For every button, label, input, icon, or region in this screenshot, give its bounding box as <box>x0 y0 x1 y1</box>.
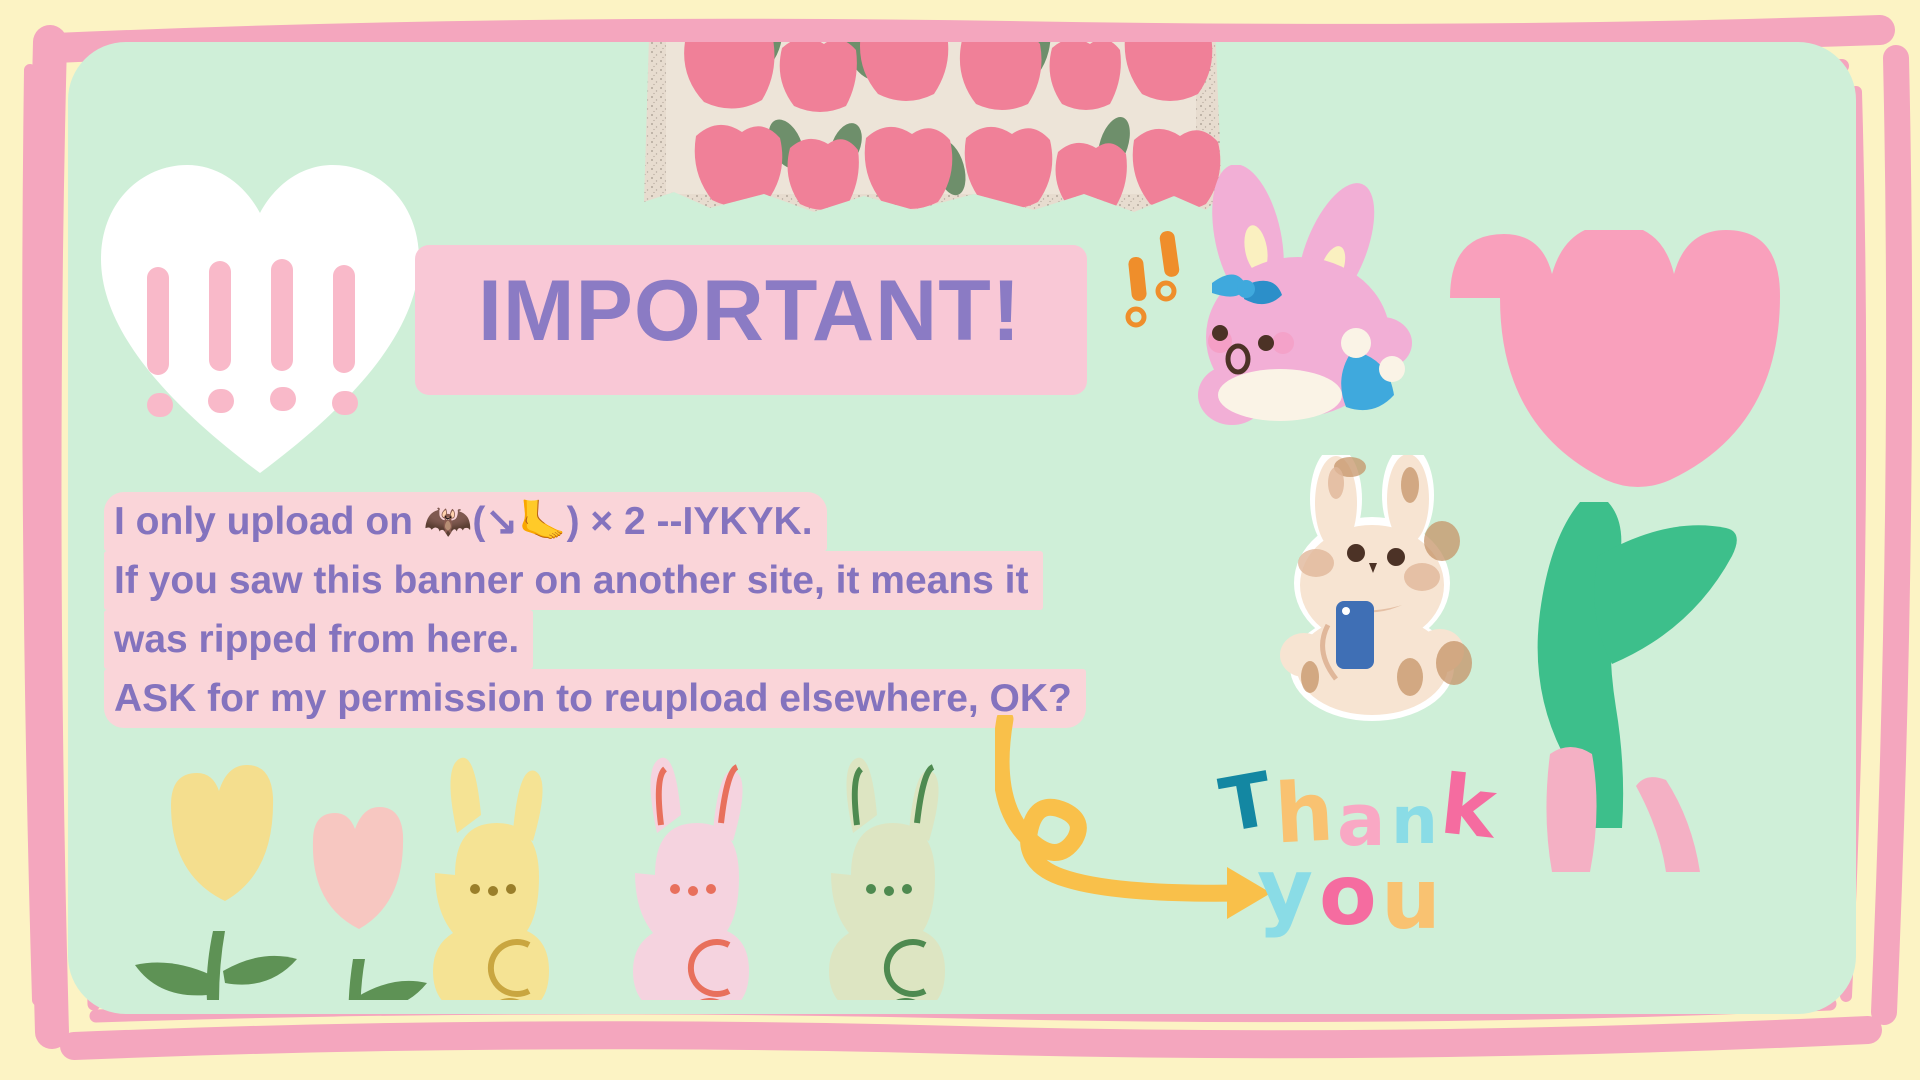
thank-you-lettering: T h a n k y o u <box>1215 758 1505 948</box>
thankyou-letter-u: u <box>1381 850 1441 948</box>
gummy-bunny-yellow-icon <box>433 758 549 1000</box>
heart-alert-icon <box>95 155 425 480</box>
thankyou-letter-y: y <box>1257 840 1313 940</box>
banner-card: IMPORTANT! I only upload on 🦇(↘🦶) × 2 --… <box>68 42 1856 1014</box>
flying-bunny-sticker-icon <box>1120 165 1450 455</box>
banner-canvas: IMPORTANT! I only upload on 🦇(↘🦶) × 2 --… <box>0 0 1920 1080</box>
thankyou-letter-o: o <box>1319 846 1377 944</box>
notice-line: If you saw this banner on another site, … <box>104 551 1043 610</box>
thankyou-letter-T: T <box>1214 756 1279 849</box>
gummy-bunny-green-icon <box>829 758 945 1000</box>
small-yellow-tulip-icon <box>135 765 297 1000</box>
small-pink-tulip-icon <box>313 807 427 1000</box>
notice-line: I only upload on 🦇(↘🦶) × 2 --IYKYK. <box>104 492 827 551</box>
gummy-bunnies-row <box>95 745 975 1000</box>
notice-line: ASK for my permission to reupload elsewh… <box>104 669 1086 728</box>
gummy-bunny-pink-icon <box>633 758 749 1000</box>
thankyou-letter-n: n <box>1391 782 1438 859</box>
page-title: IMPORTANT! <box>478 268 1021 354</box>
notice-text-block: I only upload on 🦇(↘🦶) × 2 --IYKYK. If y… <box>104 492 1189 728</box>
thankyou-letter-k: k <box>1436 757 1500 857</box>
notice-line: was ripped from here. <box>104 610 533 669</box>
